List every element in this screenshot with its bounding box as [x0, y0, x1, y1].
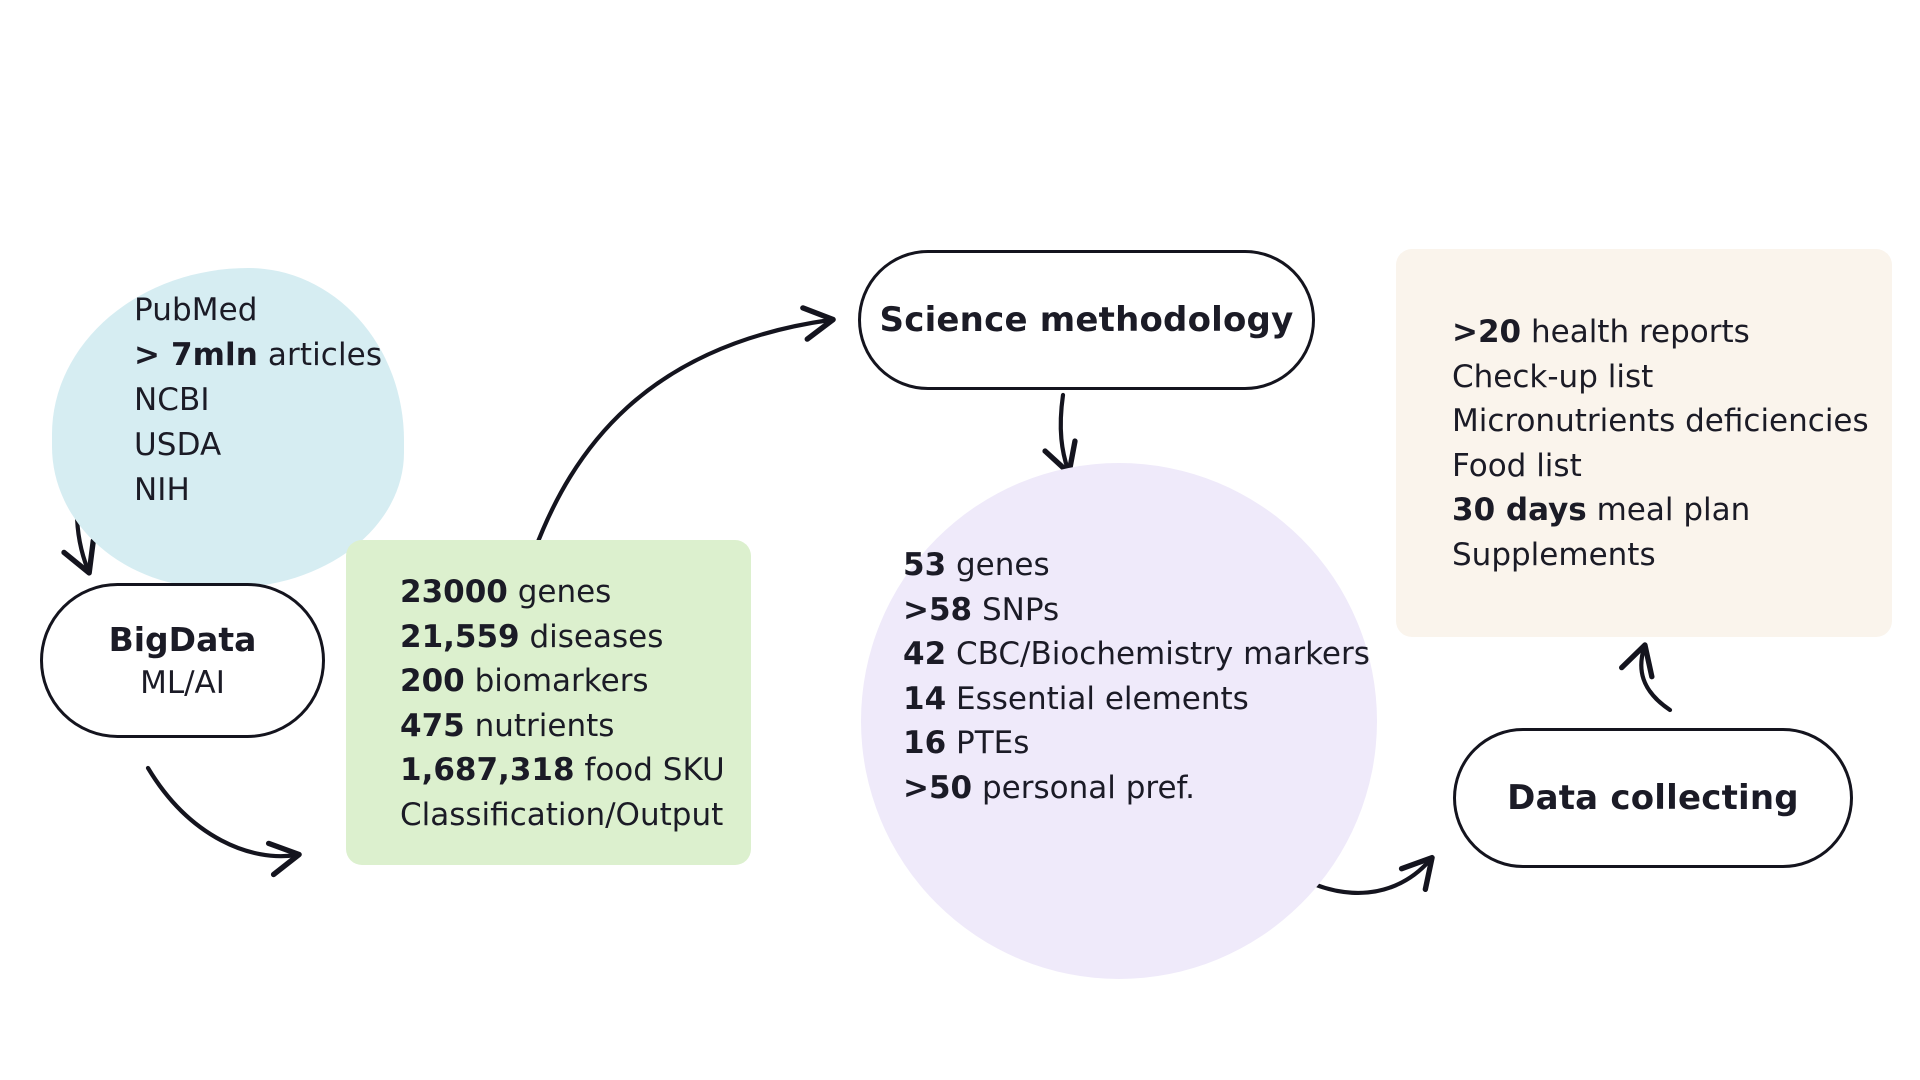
arrow-database-to-science: [534, 320, 830, 552]
list-item: 200 biomarkers: [400, 659, 760, 704]
data-collecting-node[interactable]: Data collecting: [1453, 728, 1853, 868]
list-item-text: Classification/Output: [400, 797, 723, 833]
list-item-strong: >20: [1452, 314, 1521, 350]
list-item-text: personal pref.: [972, 770, 1195, 806]
data-sources-list: PubMed > 7mln articles NCBI USDA NIH: [134, 288, 414, 513]
list-item-text: Supplements: [1452, 537, 1656, 573]
science-methodology-title: Science methodology: [880, 300, 1294, 340]
list-item: > 7mln articles: [134, 333, 414, 378]
list-item-strong: 30 days: [1452, 492, 1587, 528]
arrow-bigdata-to-database: [148, 768, 296, 856]
list-item: 16 PTEs: [903, 721, 1373, 766]
list-item-text: Food list: [1452, 448, 1582, 484]
list-item-text: NIH: [134, 472, 190, 508]
list-item-strong: 14: [903, 681, 946, 717]
list-item-text: health reports: [1521, 314, 1750, 350]
list-item: 21,559 diseases: [400, 615, 760, 660]
list-item-strong: 200: [400, 663, 465, 699]
list-item-strong: 23000: [400, 574, 508, 610]
list-item-text: genes: [508, 574, 611, 610]
list-item-text: Micronutrients deficiencies: [1452, 403, 1869, 439]
list-item: 23000 genes: [400, 570, 760, 615]
data-collecting-title: Data collecting: [1507, 778, 1799, 818]
list-item: 1,687,318 food SKU: [400, 748, 760, 793]
list-item: Supplements: [1452, 533, 1902, 578]
output-deliverables-list: >20 health reports Check-up list Micronu…: [1452, 310, 1902, 577]
list-item: NCBI: [134, 378, 414, 423]
list-item: 30 days meal plan: [1452, 488, 1902, 533]
list-item-strong: 475: [400, 708, 465, 744]
list-item-strong: >50: [903, 770, 972, 806]
list-item-strong: > 7mln: [134, 337, 258, 373]
database-counts-list: 23000 genes 21,559 diseases 200 biomarke…: [400, 570, 760, 837]
list-item-strong: 21,559: [400, 619, 520, 655]
list-item-text: articles: [258, 337, 382, 373]
list-item: 14 Essential elements: [903, 677, 1373, 722]
list-item-text: CBC/Biochemistry markers: [946, 636, 1370, 672]
list-item-strong: 53: [903, 547, 946, 583]
list-item-strong: 1,687,318: [400, 752, 575, 788]
list-item-text: biomarkers: [465, 663, 649, 699]
list-item-text: meal plan: [1587, 492, 1751, 528]
list-item-text: PTEs: [946, 725, 1029, 761]
list-item: PubMed: [134, 288, 414, 333]
list-item-text: NCBI: [134, 382, 210, 418]
list-item: Check-up list: [1452, 355, 1902, 400]
list-item-text: Essential elements: [946, 681, 1249, 717]
list-item-strong: 16: [903, 725, 946, 761]
list-item: USDA: [134, 423, 414, 468]
list-item: >20 health reports: [1452, 310, 1902, 355]
arrow-collecting-to-output: [1641, 648, 1670, 710]
list-item: Food list: [1452, 444, 1902, 489]
arrow-science-to-analysis: [1061, 395, 1068, 470]
list-item-text: USDA: [134, 427, 221, 463]
bigdata-title: BigData: [109, 618, 257, 662]
list-item: 42 CBC/Biochemistry markers: [903, 632, 1373, 677]
list-item-strong: >58: [903, 592, 972, 628]
list-item: NIH: [134, 468, 414, 513]
list-item: Classification/Output: [400, 793, 760, 838]
bigdata-subtitle: ML/AI: [140, 662, 225, 704]
list-item-text: nutrients: [465, 708, 615, 744]
list-item-text: Check-up list: [1452, 359, 1653, 395]
list-item: 53 genes: [903, 543, 1373, 588]
list-item-text: PubMed: [134, 292, 258, 328]
list-item: >50 personal pref.: [903, 766, 1373, 811]
bigdata-node[interactable]: BigData ML/AI: [40, 583, 325, 738]
analysis-inputs-list: 53 genes >58 SNPs 42 CBC/Biochemistry ma…: [903, 543, 1373, 810]
list-item: 475 nutrients: [400, 704, 760, 749]
list-item: Micronutrients deficiencies: [1452, 399, 1902, 444]
list-item: >58 SNPs: [903, 588, 1373, 633]
list-item-text: diseases: [520, 619, 664, 655]
list-item-strong: 42: [903, 636, 946, 672]
list-item-text: genes: [946, 547, 1049, 583]
list-item-text: SNPs: [972, 592, 1059, 628]
science-methodology-node[interactable]: Science methodology: [858, 250, 1315, 390]
list-item-text: food SKU: [575, 752, 725, 788]
